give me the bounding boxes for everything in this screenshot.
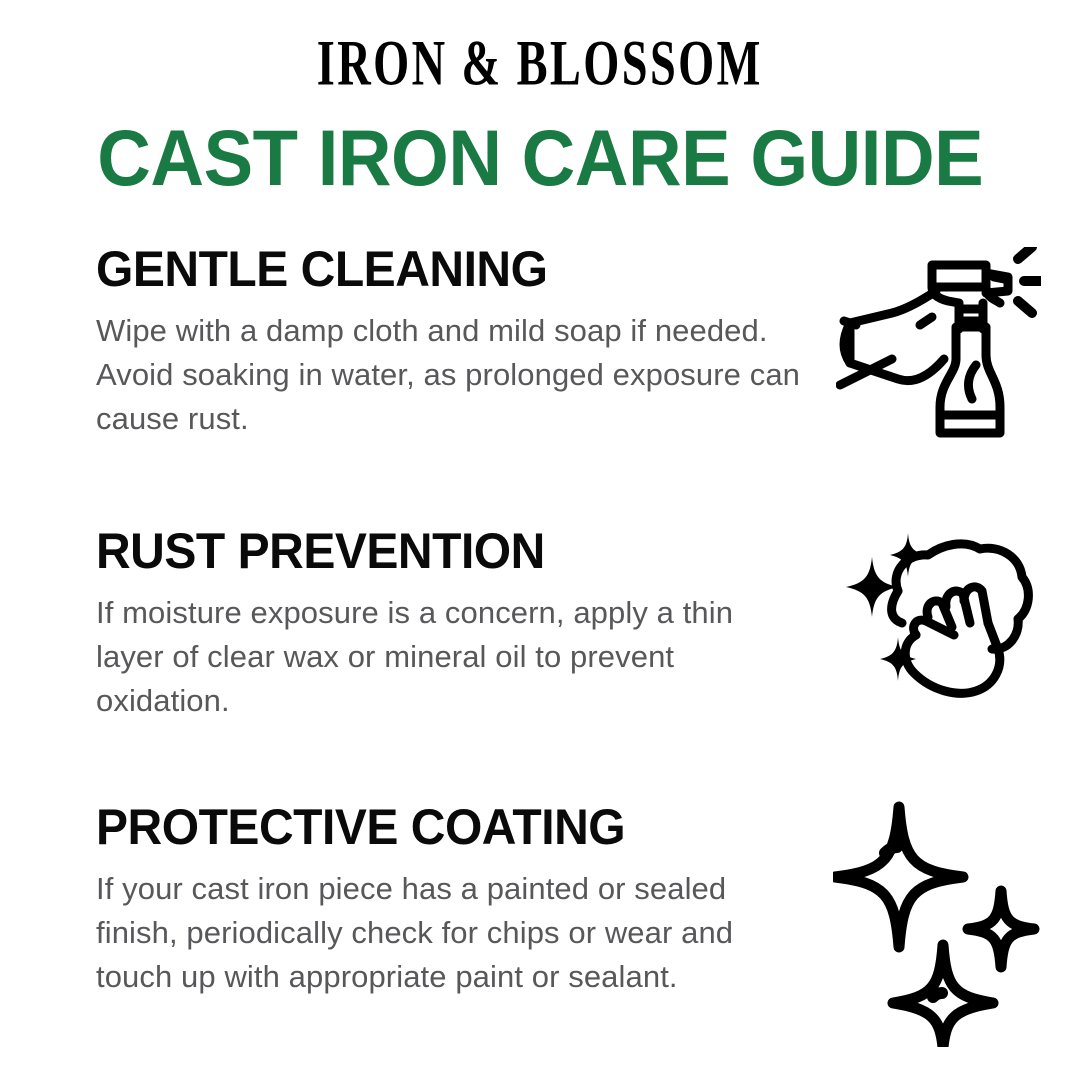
brand-logo: IRON & BLOSSOM: [0, 0, 1080, 92]
sparkles-icon: [831, 797, 1046, 1047]
care-sections: GENTLE CLEANING Wipe with a damp cloth a…: [0, 243, 1080, 1047]
sparkles-icon-glyph: [833, 797, 1045, 1047]
section-heading: PROTECTIVE COATING: [96, 801, 780, 853]
hand-wiping-cloth-sparkle-icon: [831, 531, 1046, 703]
spray-bottle-icon: [831, 247, 1046, 447]
section-rust-prevention: RUST PREVENTION If moisture exposure is …: [0, 525, 1080, 723]
brand-name: IRON & BLOSSOM: [317, 31, 763, 96]
section-gentle-cleaning: GENTLE CLEANING Wipe with a damp cloth a…: [0, 243, 1080, 447]
care-guide-page: IRON & BLOSSOM CAST IRON CARE GUIDE GENT…: [0, 0, 1080, 1080]
page-title-text: CAST IRON CARE GUIDE: [97, 118, 983, 197]
section-heading: RUST PREVENTION: [96, 525, 780, 577]
page-title: CAST IRON CARE GUIDE: [0, 118, 1080, 197]
section-text-block: GENTLE CLEANING Wipe with a damp cloth a…: [96, 243, 808, 441]
section-protective-coating: PROTECTIVE COATING If your cast iron pie…: [0, 801, 1080, 1047]
section-text-block: RUST PREVENTION If moisture exposure is …: [96, 525, 808, 723]
section-body: If your cast iron piece has a painted or…: [96, 867, 808, 999]
section-text-block: PROTECTIVE COATING If your cast iron pie…: [96, 801, 808, 999]
section-body: Wipe with a damp cloth and mild soap if …: [96, 309, 808, 441]
section-heading: GENTLE CLEANING: [96, 243, 780, 295]
section-body: If moisture exposure is a concern, apply…: [96, 591, 808, 723]
spray-bottle-icon-glyph: [836, 247, 1041, 447]
hand-wiping-cloth-sparkle-icon-glyph: [836, 531, 1041, 703]
